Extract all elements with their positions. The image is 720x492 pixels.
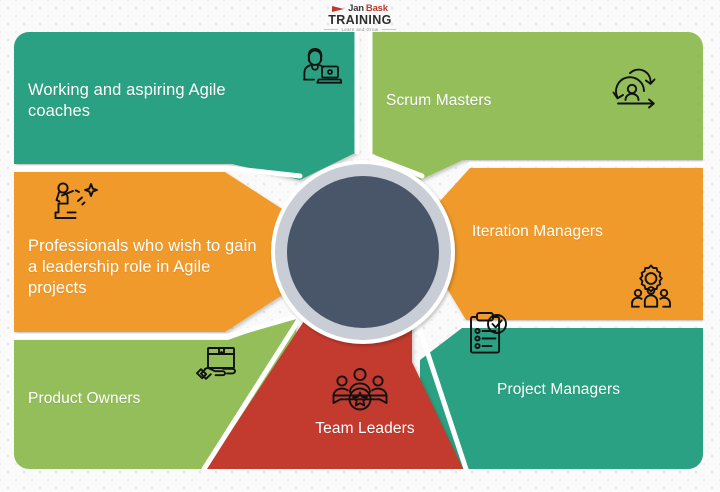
center-hub bbox=[271, 160, 455, 344]
segment-scrum-masters bbox=[370, 32, 703, 180]
tagline-rule-left bbox=[324, 29, 338, 30]
logo-training-text: TRAINING bbox=[328, 14, 392, 27]
logo-jan-text: Jan bbox=[348, 4, 364, 14]
tagline-rule-right bbox=[382, 29, 396, 30]
segment-project-managers bbox=[420, 328, 703, 469]
logo-bask-text: Bask bbox=[366, 4, 388, 14]
graduation-cap-icon bbox=[332, 5, 345, 13]
logo-wordmark-row: Jan Bask bbox=[332, 2, 388, 13]
segmented-wheel-diagram bbox=[0, 0, 720, 492]
segment-working-aspiring-agile-coaches bbox=[14, 32, 357, 180]
logo-tagline-text: Learn and Grow bbox=[341, 28, 378, 32]
janbask-training-logo: Jan Bask TRAINING Learn and Grow bbox=[0, 3, 720, 31]
logo-tagline: Learn and Grow bbox=[324, 28, 395, 32]
segment-iteration-managers bbox=[430, 168, 703, 320]
infographic-canvas: Jan Bask TRAINING Learn and Grow bbox=[0, 0, 720, 492]
segment-professionals-leadership-role bbox=[14, 172, 290, 332]
